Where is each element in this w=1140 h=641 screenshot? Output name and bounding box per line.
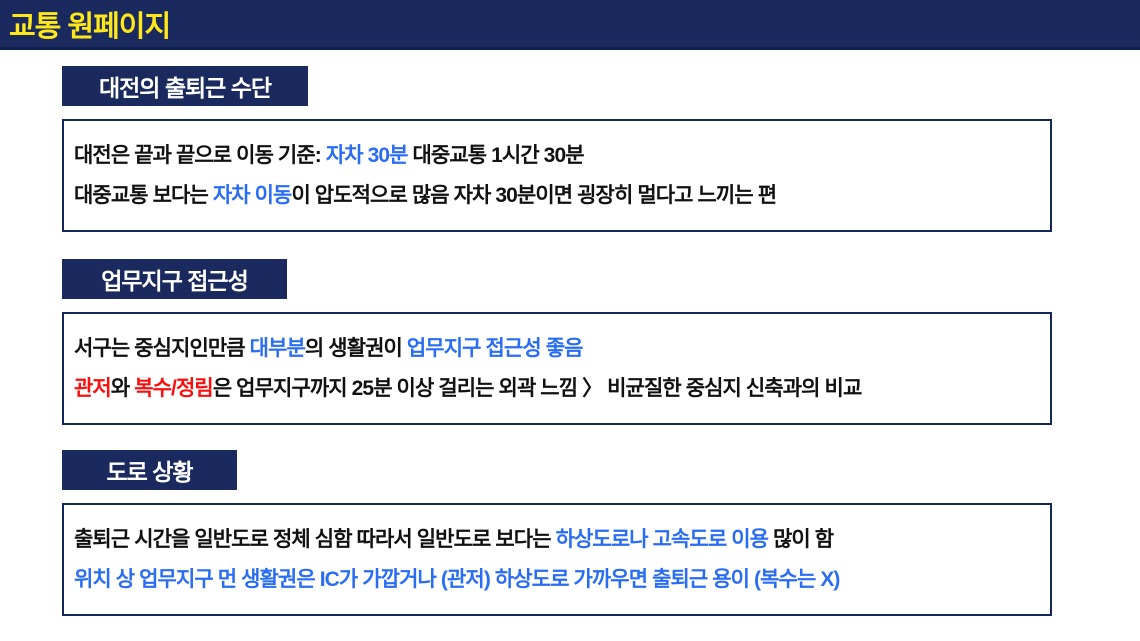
page-title: 교통 원페이지 <box>9 3 170 45</box>
text-segment-blue: 자차 30분 <box>326 144 408 167</box>
text-segment-black: 의 생활권이 <box>305 337 407 360</box>
content-line: 서구는 중심지인만큼 대부분의 생활권이 업무지구 접근성 좋음 <box>74 338 1040 359</box>
text-segment-black: 와 <box>111 377 134 400</box>
text-segment-blue: 하상도로나 고속도로 이용 <box>556 528 769 551</box>
content-box-commute-mode: 대전은 끝과 끝으로 이동 기준: 자차 30분 대중교통 1시간 30분 대중… <box>62 119 1052 232</box>
text-segment-red: 관저 <box>74 377 111 400</box>
text-segment-black: 대전은 끝과 끝으로 이동 기준: <box>74 144 326 167</box>
section-header-business-district-access: 업무지구 접근성 <box>62 259 287 299</box>
content-box-business-district-access: 서구는 중심지인만큼 대부분의 생활권이 업무지구 접근성 좋음 관저와 복수/… <box>62 312 1052 425</box>
text-segment-black: 많이 함 <box>768 528 833 551</box>
text-segment-blue: 대부분 <box>250 337 305 360</box>
content-box-road-conditions: 출퇴근 시간을 일반도로 정체 심함 따라서 일반도로 보다는 하상도로나 고속… <box>62 503 1052 616</box>
content-line: 출퇴근 시간을 일반도로 정체 심함 따라서 일반도로 보다는 하상도로나 고속… <box>74 529 1040 550</box>
section-header-commute-mode: 대전의 출퇴근 수단 <box>62 66 308 106</box>
text-segment-blue: 위치 상 업무지구 먼 생활권은 IC가 가깝거나 (관저) 하상도로 가까우면… <box>74 568 840 591</box>
content-line: 위치 상 업무지구 먼 생활권은 IC가 가깝거나 (관저) 하상도로 가까우면… <box>74 569 1040 590</box>
content-line: 대전은 끝과 끝으로 이동 기준: 자차 30분 대중교통 1시간 30분 <box>74 145 1040 166</box>
text-segment-black: 대중교통 1시간 30분 <box>408 144 584 167</box>
text-segment-black: 대중교통 보다는 <box>74 184 213 207</box>
text-segment-red: 복수/정림 <box>134 377 213 400</box>
section-header-road-conditions: 도로 상황 <box>62 450 237 490</box>
text-segment-black: 서구는 중심지인만큼 <box>74 337 250 360</box>
text-segment-black: 출퇴근 시간을 일반도로 정체 심함 따라서 일반도로 보다는 <box>74 528 556 551</box>
text-segment-black: 은 업무지구까지 25분 이상 걸리는 외곽 느낌 〉 비균질한 중심지 신축과… <box>213 377 862 400</box>
text-segment-black: 이 압도적으로 많음 자차 30분이면 굉장히 멀다고 느끼는 편 <box>291 184 776 207</box>
content-line: 관저와 복수/정림은 업무지구까지 25분 이상 걸리는 외곽 느낌 〉 비균질… <box>74 378 1040 399</box>
text-segment-blue: 자차 이동 <box>213 184 292 207</box>
page-title-bar: 교통 원페이지 <box>0 0 1140 47</box>
title-bar-underline <box>0 47 1140 50</box>
text-segment-blue: 업무지구 접근성 좋음 <box>407 337 583 360</box>
content-line: 대중교통 보다는 자차 이동이 압도적으로 많음 자차 30분이면 굉장히 멀다… <box>74 185 1040 206</box>
